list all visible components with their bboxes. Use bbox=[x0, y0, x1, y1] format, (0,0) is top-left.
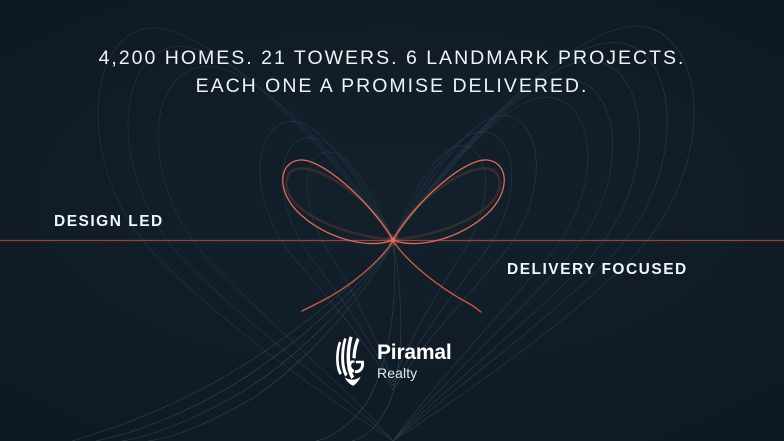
brand-logo: Piramal Realty bbox=[330, 330, 470, 392]
brand-slide: 4,200 HOMES. 21 TOWERS. 6 LANDMARK PROJE… bbox=[0, 0, 784, 441]
headline-line-2: EACH ONE A PROMISE DELIVERED. bbox=[0, 72, 784, 100]
headline-line-1: 4,200 HOMES. 21 TOWERS. 6 LANDMARK PROJE… bbox=[99, 47, 686, 69]
tagline-design-led: DESIGN LED bbox=[54, 213, 164, 231]
page-title: 4,200 HOMES. 21 TOWERS. 6 LANDMARK PROJE… bbox=[0, 44, 784, 100]
tagline-delivery-focused: DELIVERY FOCUSED bbox=[507, 261, 688, 279]
logo-brand-name: Piramal bbox=[377, 342, 451, 363]
horizontal-divider bbox=[0, 240, 784, 241]
piramal-flame-icon bbox=[330, 335, 368, 387]
logo-wordmark: Piramal Realty bbox=[377, 342, 451, 380]
logo-brand-subtitle: Realty bbox=[377, 366, 451, 380]
